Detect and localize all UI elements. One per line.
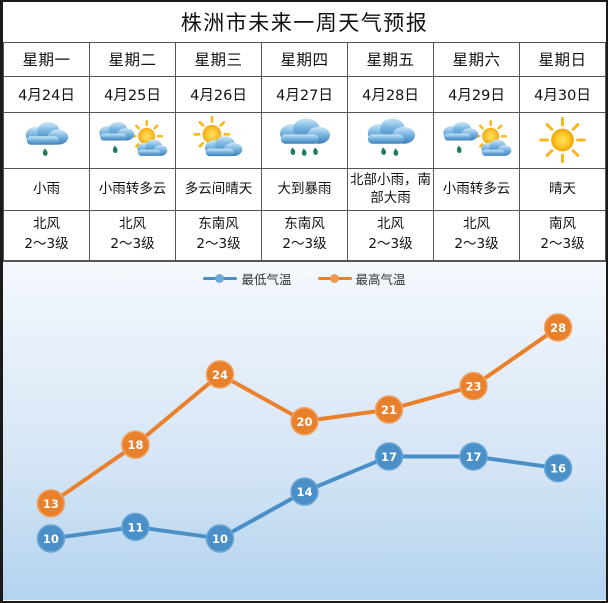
weather-icon-cell — [90, 112, 176, 168]
data-point[interactable]: 14 — [291, 478, 318, 505]
page-title: 株洲市未来一周天气预报 — [4, 2, 606, 42]
data-point[interactable]: 23 — [460, 372, 487, 399]
data-point-label: 24 — [212, 367, 228, 381]
weekday-cell: 星期二 — [90, 42, 176, 76]
data-point[interactable]: 11 — [122, 513, 149, 540]
wind-direction: 北风 — [90, 215, 175, 235]
wind-direction: 北风 — [434, 215, 519, 235]
weekday-row: 星期一 星期二 星期三 星期四 星期五 星期六 星期日 — [4, 42, 606, 76]
weekday-cell: 星期四 — [262, 42, 348, 76]
data-point-label: 10 — [212, 532, 228, 546]
heavy-rain-icon — [262, 113, 347, 167]
weather-icon-cell — [262, 112, 348, 168]
cloudy-to-sunny-icon — [176, 113, 261, 167]
wind-direction: 东南风 — [262, 215, 347, 235]
date-cell: 4月25日 — [90, 76, 176, 112]
temperature-line-plot: 1011101417171613182420212328 — [3, 262, 606, 601]
date-cell: 4月26日 — [176, 76, 262, 112]
date-cell: 4月30日 — [520, 76, 606, 112]
weather-description-cell: 北部小雨，南部大雨 — [348, 168, 434, 210]
date-cell: 4月29日 — [434, 76, 520, 112]
rain-to-cloudy-icon — [90, 113, 175, 167]
rain-to-cloudy-icon — [434, 113, 519, 167]
weather-description-cell: 晴天 — [520, 168, 606, 210]
data-point-label: 11 — [127, 520, 143, 534]
date-cell: 4月28日 — [348, 76, 434, 112]
weekday-cell: 星期一 — [4, 42, 90, 76]
wind-direction: 北风 — [4, 215, 89, 235]
data-point-label: 23 — [466, 379, 482, 393]
temperature-chart: 最低气温 最高气温 1011101417171613182420212328 — [3, 261, 606, 600]
weather-icon-cell — [176, 112, 262, 168]
date-cell: 4月27日 — [262, 76, 348, 112]
data-point[interactable]: 28 — [545, 313, 572, 340]
date-row: 4月24日 4月25日 4月26日 4月27日 4月28日 4月29日 4月30… — [4, 76, 606, 112]
title-row: 株洲市未来一周天气预报 — [4, 2, 606, 42]
data-point[interactable]: 17 — [460, 442, 487, 469]
wind-force: 2～3级 — [434, 235, 519, 255]
data-point-label: 21 — [381, 403, 397, 417]
light-rain-icon — [4, 113, 89, 167]
data-point-label: 28 — [550, 320, 566, 334]
wind-cell: 东南风 2～3级 — [262, 210, 348, 260]
weather-description-cell: 多云间晴天 — [176, 168, 262, 210]
wind-cell: 北风 2～3级 — [434, 210, 520, 260]
data-point[interactable]: 13 — [37, 489, 64, 516]
wind-force: 2～3级 — [262, 235, 347, 255]
weather-icon-cell — [4, 112, 90, 168]
data-point-label: 20 — [297, 414, 313, 428]
data-point-label: 18 — [127, 438, 143, 452]
weekday-cell: 星期日 — [520, 42, 606, 76]
weather-description-cell: 小雨 — [4, 168, 90, 210]
wind-force: 2～3级 — [4, 235, 89, 255]
wind-cell: 北风 2～3级 — [348, 210, 434, 260]
date-cell: 4月24日 — [4, 76, 90, 112]
wind-force: 2～3级 — [348, 235, 433, 255]
wind-direction: 南风 — [520, 215, 605, 235]
data-point[interactable]: 18 — [122, 431, 149, 458]
weather-description-cell: 大到暴雨 — [262, 168, 348, 210]
wind-force: 2～3级 — [520, 235, 605, 255]
weekday-cell: 星期三 — [176, 42, 262, 76]
wind-row: 北风 2～3级 北风 2～3级 东南风 2～3级 东南风 2～3级 北风 2 — [4, 210, 606, 260]
weather-description-cell: 小雨转多云 — [90, 168, 176, 210]
data-point[interactable]: 17 — [376, 442, 403, 469]
wind-direction: 东南风 — [176, 215, 261, 235]
data-point[interactable]: 24 — [206, 360, 233, 387]
data-point-label: 17 — [466, 449, 482, 463]
data-point[interactable]: 10 — [37, 525, 64, 552]
wind-cell: 北风 2～3级 — [90, 210, 176, 260]
data-point-label: 10 — [43, 532, 59, 546]
wind-direction: 北风 — [348, 215, 433, 235]
weather-description-cell: 小雨转多云 — [434, 168, 520, 210]
weather-icon-cell — [434, 112, 520, 168]
wind-force: 2～3级 — [90, 235, 175, 255]
weather-icon-cell — [348, 112, 434, 168]
data-point-label: 16 — [550, 461, 566, 475]
wind-force: 2～3级 — [176, 235, 261, 255]
weekday-cell: 星期五 — [348, 42, 434, 76]
data-point[interactable]: 21 — [376, 396, 403, 423]
icon-row — [4, 112, 606, 168]
wind-cell: 南风 2～3级 — [520, 210, 606, 260]
weather-icon-cell — [520, 112, 606, 168]
data-point[interactable]: 16 — [545, 454, 572, 481]
data-point-label: 14 — [297, 485, 313, 499]
forecast-table: 株洲市未来一周天气预报 星期一 星期二 星期三 星期四 星期五 星期六 星期日 … — [3, 2, 606, 261]
data-point[interactable]: 20 — [291, 407, 318, 434]
data-point[interactable]: 10 — [206, 525, 233, 552]
wind-cell: 东南风 2～3级 — [176, 210, 262, 260]
data-point-label: 17 — [381, 449, 397, 463]
data-point-label: 13 — [43, 496, 59, 510]
description-row: 小雨 小雨转多云 多云间晴天 大到暴雨 北部小雨，南部大雨 小雨转多云 晴天 — [4, 168, 606, 210]
weekday-cell: 星期六 — [434, 42, 520, 76]
sunny-icon — [520, 113, 605, 167]
weather-forecast-page: 株洲市未来一周天气预报 星期一 星期二 星期三 星期四 星期五 星期六 星期日 … — [0, 0, 608, 603]
wind-cell: 北风 2～3级 — [4, 210, 90, 260]
rain-icon — [348, 113, 433, 167]
